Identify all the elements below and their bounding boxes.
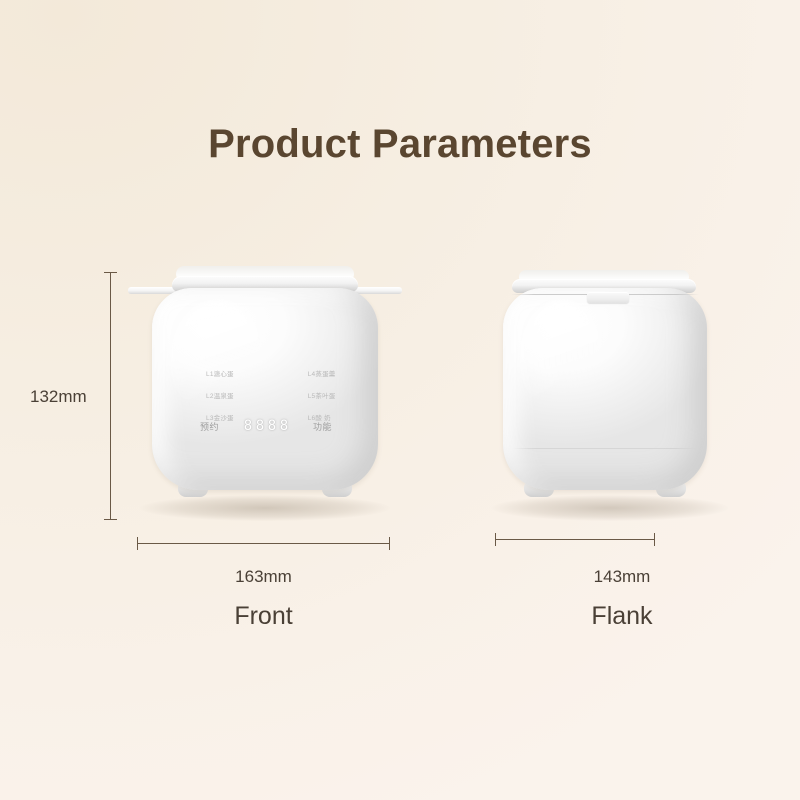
- display-digit-3: 8: [268, 419, 277, 434]
- flank-width-dimension-line: [495, 539, 655, 540]
- front-width-cap-right: [389, 537, 390, 550]
- front-view-caption: Front: [0, 602, 527, 631]
- display-digit-2: 8: [256, 419, 265, 434]
- mode-label-l1[interactable]: L1溏心蛋: [206, 368, 234, 378]
- mode-label-l4[interactable]: L4蒸蛋羹: [308, 368, 336, 378]
- appointment-button[interactable]: 预约: [200, 420, 219, 433]
- flank-width-label: 143mm: [497, 567, 747, 587]
- flank-body-gloss: [519, 300, 605, 418]
- display-digit-1: 8: [244, 419, 253, 434]
- flank-width-cap-left: [495, 533, 496, 546]
- mode-label-columns: L1溏心蛋 L2温泉蛋 L3金沙蛋 L4蒸蛋羹 L5茶叶蛋 L6酸 奶: [206, 368, 335, 422]
- height-dimension-cap-bottom: [104, 519, 117, 520]
- flank-width-cap-right: [654, 533, 655, 546]
- height-dimension-label: 132mm: [30, 387, 87, 407]
- mode-column-left: L1溏心蛋 L2温泉蛋 L3金沙蛋: [206, 368, 234, 422]
- front-width-cap-left: [137, 537, 138, 550]
- page-title: Product Parameters: [0, 122, 800, 167]
- front-width-dimension-line: [137, 543, 390, 544]
- flank-unit-shadow: [492, 495, 728, 521]
- lid-latch[interactable]: [587, 292, 629, 303]
- flank-base-seam: [513, 448, 697, 449]
- flank-view-caption: Flank: [497, 602, 747, 631]
- product-parameters-page: Product Parameters 132mm: [0, 0, 800, 800]
- digital-display: 8 8 8 8: [244, 419, 289, 434]
- control-row: 预约 8 8 8 8 功能: [200, 419, 332, 434]
- mode-column-right: L4蒸蛋羹 L5茶叶蛋 L6酸 奶: [308, 368, 336, 422]
- front-unit-shadow: [140, 495, 390, 521]
- mode-label-l5[interactable]: L5茶叶蛋: [308, 390, 336, 400]
- display-digit-4: 8: [280, 419, 289, 434]
- mode-label-l2[interactable]: L2温泉蛋: [206, 390, 234, 400]
- function-button[interactable]: 功能: [313, 420, 332, 433]
- height-dimension-cap-top: [104, 272, 117, 273]
- front-width-label: 163mm: [0, 567, 527, 587]
- flank-body: [503, 288, 707, 490]
- height-dimension-line: [110, 272, 111, 520]
